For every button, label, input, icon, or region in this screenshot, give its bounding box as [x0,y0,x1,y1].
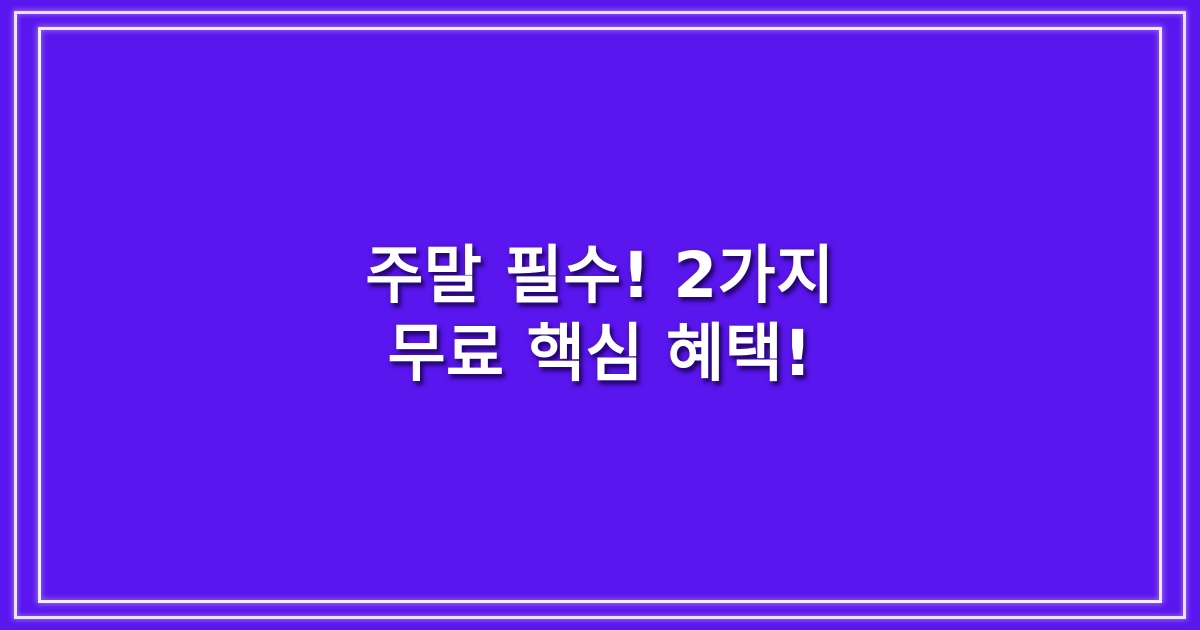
promo-banner-card: 주말 필수! 2가지 무료 핵심 혜택! [0,0,1200,630]
headline-line-1: 주말 필수! 2가지 [365,237,834,315]
headline-block: 주말 필수! 2가지 무료 핵심 혜택! [0,0,1200,630]
headline-line-2: 무료 핵심 혜택! [388,315,813,393]
